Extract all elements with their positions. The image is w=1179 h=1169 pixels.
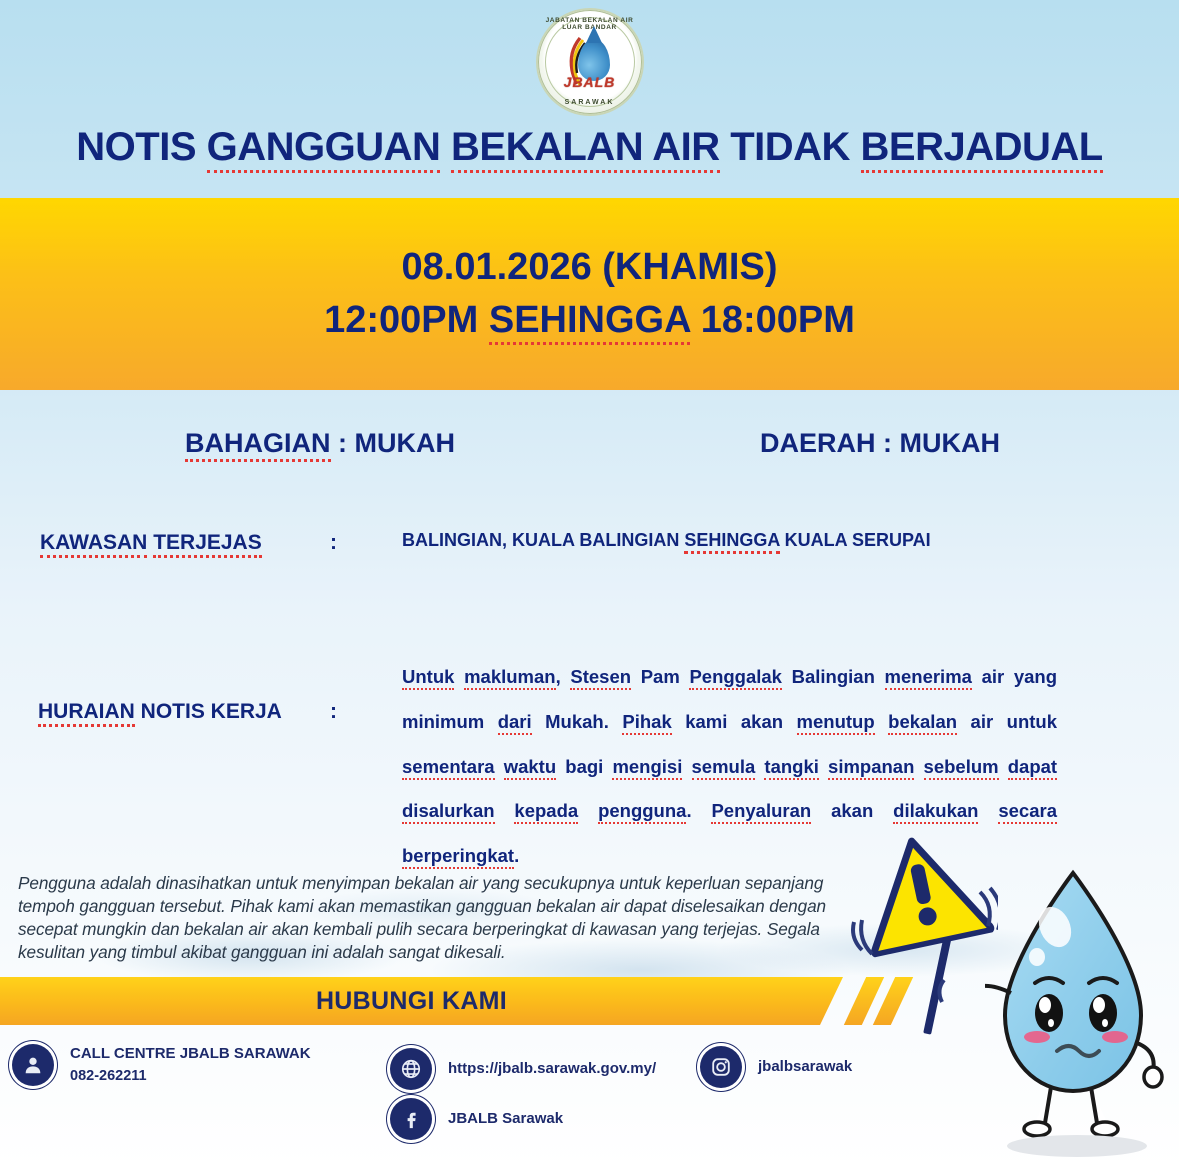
facebook-icon: [390, 1098, 432, 1140]
hubungi-kami-label: HUBUNGI KAMI: [316, 987, 507, 1016]
person-icon: [12, 1044, 54, 1086]
contact-website[interactable]: https://jbalb.sarawak.gov.my/: [390, 1048, 656, 1090]
website-url[interactable]: https://jbalb.sarawak.gov.my/: [448, 1058, 656, 1081]
title-word-berjadual: BERJADUAL: [861, 125, 1103, 173]
poster-canvas: JABATAN BEKALAN AIR LUAR BANDAR JBALB SA…: [0, 0, 1179, 1169]
contact-instagram[interactable]: jbalbsarawak: [700, 1046, 852, 1088]
hubungi-kami-banner: HUBUNGI KAMI: [0, 977, 843, 1025]
water-droplet-mascot: [985, 865, 1175, 1165]
mascot-shadow: [1007, 1135, 1147, 1157]
daerah-field: DAERAH : MUKAH: [760, 428, 1000, 459]
globe-icon: [390, 1048, 432, 1090]
instagram-handle[interactable]: jbalbsarawak: [758, 1056, 852, 1079]
kawasan-terjejas-label: KAWASAN TERJEJAS: [40, 531, 262, 555]
facebook-page[interactable]: JBALB Sarawak: [448, 1108, 563, 1131]
contact-call-centre[interactable]: CALL CENTRE JBALB SARAWAK 082-262211: [12, 1043, 311, 1087]
kawasan-terjejas-value: BALINGIAN, KUALA BALINGIAN SEHINGGA KUAL…: [402, 530, 1062, 551]
logo-bottom-text: SARAWAK: [538, 99, 642, 106]
kawasan-colon: :: [330, 531, 337, 555]
logo-wordmark: JBALB: [538, 74, 642, 90]
disclaimer-text: Pengguna adalah dinasihatkan untuk menyi…: [18, 872, 848, 964]
contact-facebook[interactable]: JBALB Sarawak: [390, 1098, 563, 1140]
jbalb-logo: JABATAN BEKALAN AIR LUAR BANDAR JBALB SA…: [531, 8, 649, 112]
bahagian-field: BAHAGIAN : MUKAH: [185, 428, 455, 459]
call-centre-label: CALL CENTRE JBALB SARAWAK: [70, 1043, 311, 1066]
instagram-icon: [700, 1046, 742, 1088]
notice-time: 12:00PM SEHINGGA 18:00PM: [324, 299, 855, 342]
huraian-colon: :: [330, 700, 337, 724]
title-word-notis: NOTIS: [76, 125, 206, 169]
call-centre-number: 082-262211: [70, 1066, 311, 1088]
mascot-illustration: [985, 865, 1175, 1165]
notice-date: 08.01.2026 (KHAMIS): [402, 246, 778, 289]
huraian-notis-kerja-label: HURAIAN NOTIS KERJA: [38, 700, 282, 724]
date-time-band: 08.01.2026 (KHAMIS) 12:00PM SEHINGGA 18:…: [0, 198, 1179, 390]
title-word-gangguan: GANGGUAN: [207, 125, 441, 173]
page-title: NOTIS GANGGUAN BEKALAN AIR TIDAK BERJADU…: [0, 125, 1179, 170]
title-word-bekalan: BEKALAN AIR: [451, 125, 720, 173]
